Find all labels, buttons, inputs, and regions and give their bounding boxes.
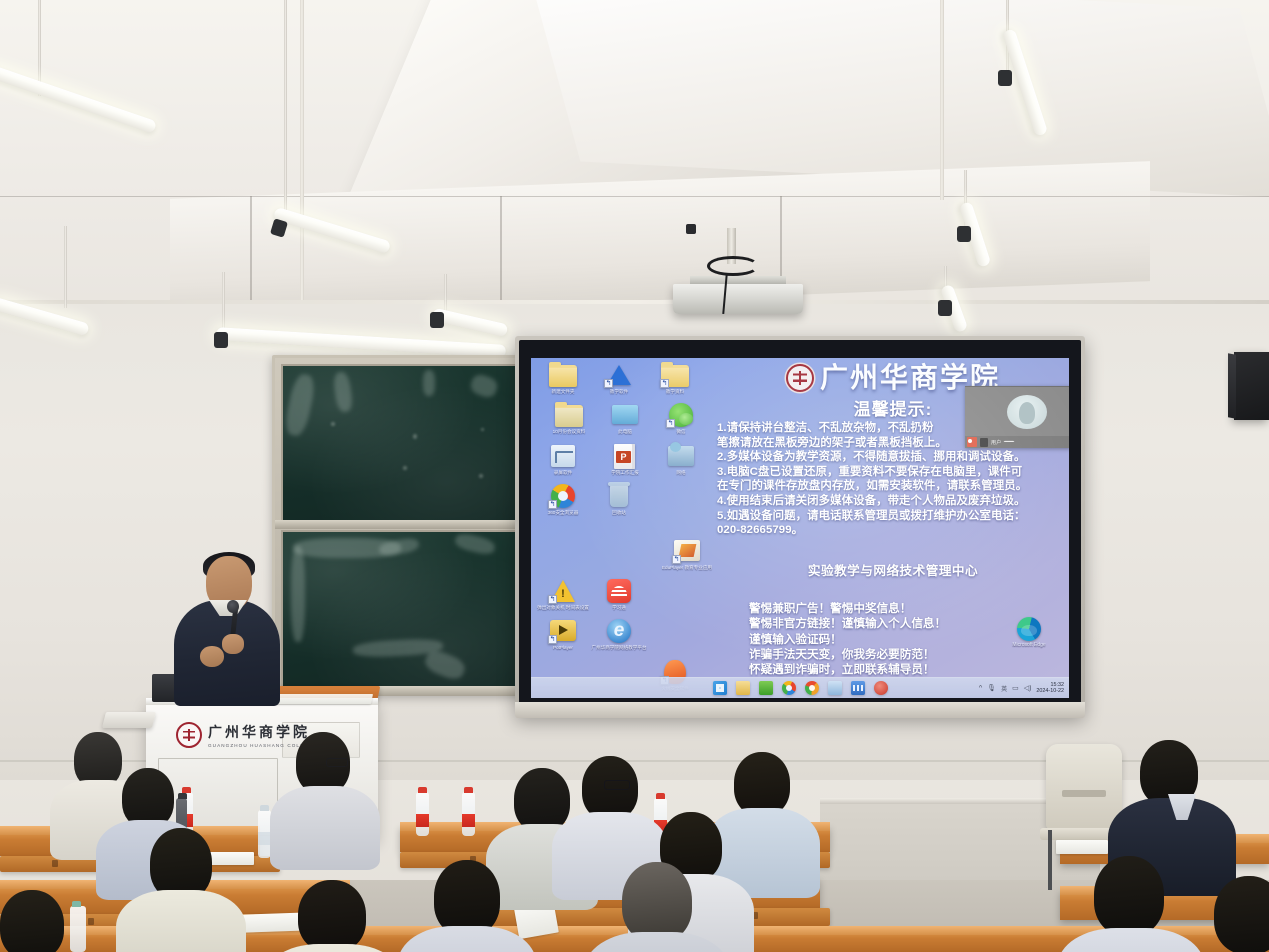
folder-icon: [548, 362, 578, 388]
xuexitong-icon: [604, 578, 634, 604]
ie-browser-icon: [604, 618, 634, 644]
network-icon: [666, 443, 696, 469]
desktop-icon-this-pc[interactable]: 此电脑: [597, 402, 653, 434]
wechat-icon[interactable]: [759, 681, 773, 695]
light-cap-4: [214, 332, 228, 348]
classroom-scene: 新建文件夹 ↰ 教学软件 ↰ 教学资料 10月份会议资料 此电脑 ↰ 微信: [0, 0, 1269, 952]
warning-line: 谨慎输入验证码！: [749, 632, 1069, 647]
projector-cable-coil: [707, 256, 759, 276]
desktop-icon-label: 网络: [653, 470, 709, 476]
folder-icon: [554, 402, 584, 428]
desktop-icon-label: PotPlayer: [535, 645, 591, 651]
notice-line: 3.电脑C盘已设置还原，重要资料不要保存在电脑里，课件可: [717, 465, 1069, 480]
desktop-icon-wechat[interactable]: ↰ 微信: [653, 402, 709, 434]
presenter-hand-gesturing: [200, 646, 224, 667]
pen-icon[interactable]: [1003, 436, 1014, 447]
chalk-smudge: [468, 372, 499, 400]
wall-pipe-vertical-2: [940, 0, 944, 200]
desktop-icon-label: EduPlayer 教育专业应用: [659, 564, 715, 570]
bench-slot: [88, 918, 94, 925]
desktop-icon-label: 录屏软件: [535, 470, 591, 476]
person-head: [122, 768, 174, 828]
person-head: [0, 890, 64, 952]
huashang-seal-icon: [786, 364, 814, 392]
notice-line: 020-82665799。: [717, 523, 1069, 538]
person-head: [434, 860, 500, 936]
person-shoulders: [116, 890, 246, 952]
warning-line: 诈骗手法天天变，你我务必要防范！: [749, 647, 1069, 662]
ceiling-mount-icon: [686, 224, 696, 234]
desktop-icon-label: 教学软件: [591, 389, 647, 395]
chalk-smudge: [332, 371, 353, 413]
potplayer-icon: ↰: [548, 618, 578, 644]
powerpoint-file-icon: [610, 443, 640, 469]
green-chalkboard: [272, 355, 528, 695]
warning-line: 怀疑遇到诈骗时，立即联系辅导员！: [749, 662, 1069, 677]
grid-icon[interactable]: [828, 681, 842, 695]
default-avatar-icon: [1007, 395, 1047, 429]
desktop-icon-online-teaching-platform[interactable]: 广州华商学院网络教学平台: [591, 618, 647, 650]
chalk-dot: [481, 428, 484, 431]
person-shoulders: [270, 786, 380, 870]
windows-taskbar[interactable]: ^ 🎙 英 ▭ ◁) 15:32 2024-10-22: [531, 677, 1069, 698]
desktop-icon-grid: 新建文件夹 ↰ 教学软件 ↰ 教学资料 10月份会议资料 此电脑 ↰ 微信: [535, 362, 715, 698]
desktop-icon-potplayer[interactable]: ↰ PotPlayer: [535, 618, 591, 650]
notice-line: 在专门的课件存放盘内存放，如需安装软件，请联系管理员。: [717, 479, 1069, 494]
chalk-smudge: [423, 370, 435, 396]
volume-icon[interactable]: ◁): [1024, 684, 1032, 692]
recycle-bin-icon: [604, 483, 634, 509]
chalk-smudge: [422, 647, 467, 682]
camera-icon[interactable]: [967, 437, 977, 447]
eduplayer-icon: ↰: [672, 538, 702, 564]
ime-indicator[interactable]: 英: [1001, 684, 1007, 693]
desktop-icon-label: 新建文件夹: [535, 389, 591, 395]
ceiling-projector: [673, 284, 803, 314]
chalk-smudge: [454, 531, 497, 556]
network-icon[interactable]: ▭: [1012, 684, 1019, 692]
person-head: [734, 752, 790, 816]
light-cap-7: [938, 300, 952, 316]
light-rod-2: [284, 0, 287, 226]
light-rod-3: [64, 226, 67, 308]
person-head-grey-hair: [622, 862, 692, 942]
chalk-dot: [479, 474, 483, 478]
360-icon[interactable]: [805, 681, 819, 695]
eyeglasses-icon: [326, 758, 348, 767]
notice-signature: 实验教学与网络技术管理中心: [717, 560, 1069, 579]
desktop-icon-eduplayer[interactable]: ↰ EduPlayer 教育专业应用: [659, 538, 715, 570]
desktop-icon-xuexitong[interactable]: 学习通: [591, 578, 647, 610]
light-cap-6: [957, 226, 971, 242]
participant-name: 用户: [991, 439, 1002, 446]
microphone-icon: [227, 600, 239, 613]
eyeglasses-icon: [604, 780, 630, 790]
presenter-hand-holding-mic: [222, 634, 244, 654]
desktop-icon-recycle-bin[interactable]: 回收站: [591, 483, 647, 515]
lectern-branding: 广州华商学院 GUANGZHOU HUASHANG COLLEGE: [176, 722, 317, 748]
desktop-icon-teaching-software[interactable]: ↰ 教学软件: [591, 362, 647, 394]
icon-grid-spacer: [535, 659, 647, 660]
desktop-icon-label: 微信: [653, 429, 709, 435]
chair-leg: [1048, 830, 1052, 890]
desktop-icon-label: 学习通: [591, 605, 647, 611]
seewo-icon[interactable]: [851, 681, 865, 695]
record-icon[interactable]: [874, 681, 888, 695]
chrome-icon[interactable]: [782, 681, 796, 695]
warning-triangle-icon: ↰: [548, 578, 578, 604]
folder-icon: ↰: [660, 362, 690, 388]
bench-slot: [52, 860, 58, 867]
chalkboard-panel-upper: [281, 364, 519, 522]
wall-speaker: [1234, 352, 1269, 420]
desktop-icon-network[interactable]: 网络: [653, 443, 709, 475]
notice-line: 5.如遇设备问题，请电话联系管理员或拨打维护办公室电话：: [717, 509, 1069, 524]
notice-line: 4.使用结束后请关闭多媒体设备，带走个人物品及废弃垃圾。: [717, 494, 1069, 509]
desktop-icon-label: 学院工作汇报: [597, 470, 653, 476]
water-bottle: [462, 792, 475, 836]
computer-icon: [610, 402, 640, 428]
desktop-icon-label: 10月份会议资料: [541, 429, 597, 435]
icon-grid-spacer: [535, 538, 659, 539]
light-cap-5: [998, 70, 1012, 86]
warning-line: 警惕兼职广告！警惕中奖信息！: [749, 601, 1069, 616]
desktop-icon-label: 教学资料: [647, 389, 703, 395]
desktop-icon-work-report-ppt[interactable]: 学院工作汇报: [597, 443, 653, 475]
screen-recorder-icon: [548, 443, 578, 469]
video-call-toolbar[interactable]: 用户: [965, 436, 1069, 448]
light-cap-8: [430, 312, 444, 328]
screen-bottom-rail: [515, 702, 1085, 718]
fraud-warning-block: 警惕兼职广告！警惕中奖信息！ 警惕非官方链接！谨慎输入个人信息！ 谨慎输入验证码…: [717, 601, 1069, 678]
chevron-up-icon[interactable]: ^: [979, 685, 982, 692]
lectern-keyboard-drawer[interactable]: [102, 712, 156, 728]
desktop-icon-360-browser[interactable]: ↰ 360安全浏览器: [535, 483, 591, 529]
desktop-icon-label: 回收站: [591, 510, 647, 516]
water-bottle: [416, 792, 429, 836]
warning-line: 警惕非官方链接！谨慎输入个人信息！: [749, 616, 1069, 631]
chalk-smudge: [283, 372, 317, 437]
huashang-seal-icon: [176, 722, 202, 748]
person-head: [1214, 876, 1269, 952]
ceiling-seam-v3: [250, 196, 252, 300]
mic-icon[interactable]: 🎙: [987, 684, 996, 692]
chalk-smudge: [291, 546, 305, 642]
sports-bottle: [70, 906, 86, 952]
ceiling-seam-1: [0, 196, 1269, 197]
chalk-dot: [403, 466, 407, 470]
clock-date: 2024-10-22: [1036, 688, 1064, 694]
desktop-icon-october-meeting[interactable]: 10月份会议资料: [541, 402, 597, 434]
video-call-overlay[interactable]: 用户: [965, 386, 1069, 448]
chalk-dot: [331, 422, 335, 426]
desktop-icon-screen-recorder[interactable]: 录屏软件: [535, 443, 591, 475]
wechat-icon: ↰: [666, 402, 696, 428]
taskbar-clock[interactable]: 15:32 2024-10-22: [1036, 682, 1064, 694]
windows-start-icon[interactable]: [713, 681, 727, 695]
person-head: [514, 768, 570, 832]
peak-shortcut-icon: ↰: [604, 362, 634, 388]
person-head: [1094, 856, 1164, 936]
chalkboard-divider-rail: [275, 520, 525, 529]
icon-grid-spacer: [647, 578, 703, 579]
wall-pipe-horizontal: [0, 300, 1269, 304]
wall-pipe-vertical-1: [300, 0, 304, 300]
desktop-icon-label: 360安全浏览器: [535, 510, 591, 516]
desktop-icon-label: 此电脑: [597, 429, 653, 435]
desktop-icon-label: 弹出对象关机 时间表设置: [535, 605, 591, 611]
plastic-chair: [1046, 744, 1122, 830]
notebook: [1056, 840, 1108, 854]
projected-desktop[interactable]: 新建文件夹 ↰ 教学软件 ↰ 教学资料 10月份会议资料 此电脑 ↰ 微信: [531, 358, 1069, 698]
system-tray[interactable]: ^ 🎙 英 ▭ ◁) 15:32 2024-10-22: [979, 682, 1064, 694]
chair-handle-slot: [1062, 790, 1106, 797]
desktop-icon-teaching-materials[interactable]: ↰ 教学资料: [647, 362, 703, 394]
desktop-icon-folder-new[interactable]: 新建文件夹: [535, 362, 591, 394]
desktop-icon-label: 广州华商学院网络教学平台: [591, 645, 647, 651]
person-head: [298, 880, 366, 952]
notice-line: 2.多媒体设备为教学资源，不得随意拔插、挪用和调试设备。: [717, 450, 1069, 465]
mic-icon[interactable]: [980, 438, 988, 447]
360-browser-icon: ↰: [548, 483, 578, 509]
folder-icon[interactable]: [736, 681, 750, 695]
chalkboard-panel-lower: [281, 530, 519, 688]
chalk-dot: [413, 434, 417, 439]
lectern-brand-cn: 广州华商学院: [208, 722, 317, 742]
desktop-icon-shutdown-schedule[interactable]: ↰ 弹出对象关机 时间表设置: [535, 578, 591, 610]
ceiling-seam-v1: [500, 196, 502, 300]
